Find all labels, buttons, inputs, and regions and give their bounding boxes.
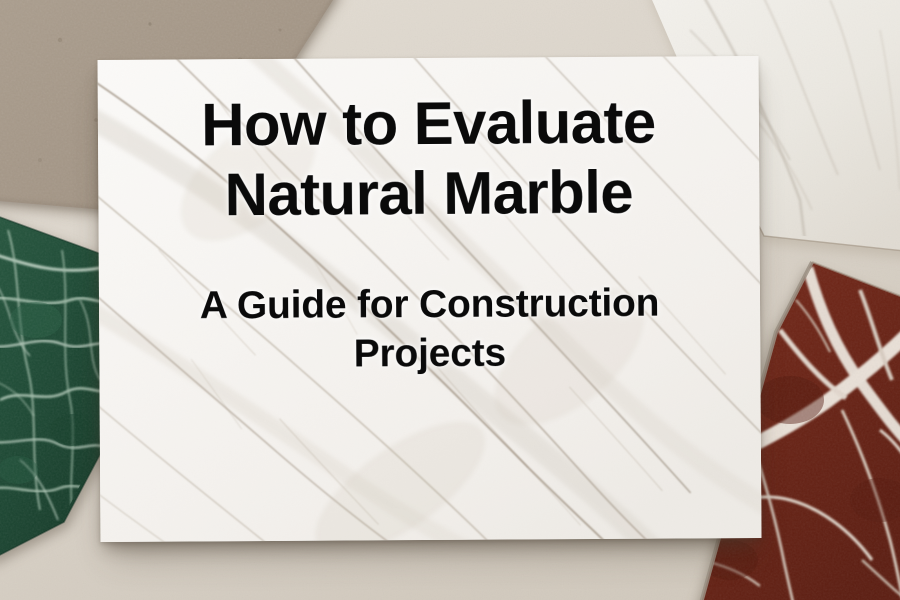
card-text-block: How to Evaluate Natural Marble A Guide f…: [98, 56, 762, 542]
page-subtitle: A Guide for Construction Projects: [129, 226, 730, 380]
page-title: How to Evaluate Natural Marble: [201, 88, 656, 230]
page-title-line-2: Natural Marble: [201, 157, 656, 229]
hero-marble-card: How to Evaluate Natural Marble A Guide f…: [98, 56, 762, 542]
page-title-line-1: How to Evaluate: [201, 88, 656, 160]
poster-canvas: How to Evaluate Natural Marble A Guide f…: [0, 0, 900, 600]
